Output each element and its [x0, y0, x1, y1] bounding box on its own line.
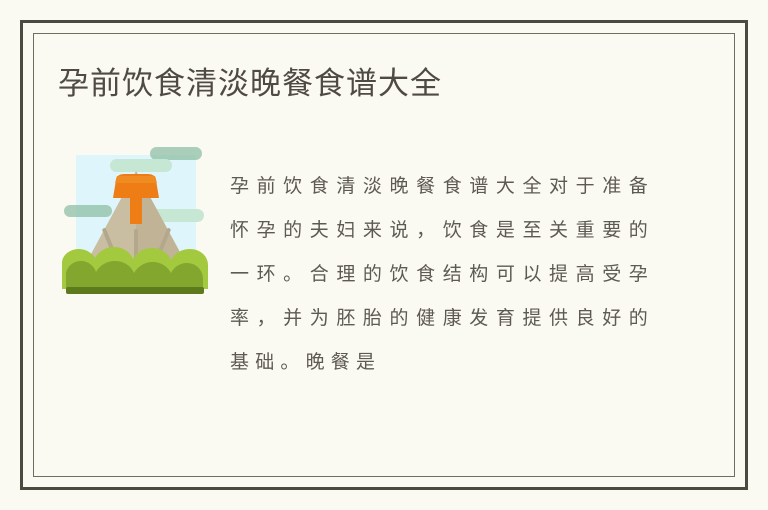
article-body: 孕前饮食清淡晚餐食谱大全对于准备怀孕的夫妇来说，饮食是至关重要的一环。合理的饮食…: [230, 164, 654, 384]
cloud-icon-top-left: [110, 159, 172, 172]
cloud-icon-mid-left: [64, 205, 112, 217]
article-content: 孕前饮食清淡晚餐食谱大全对于准备怀孕的夫妇来说，饮食是至关重要的一环。合理的饮食…: [58, 142, 698, 392]
article-paragraph: 孕前饮食清淡晚餐食谱大全对于准备怀孕的夫妇来说，饮食是至关重要的一环。合理的饮食…: [230, 164, 654, 384]
volcano-illustration: [62, 145, 210, 303]
page-title: 孕前饮食清淡晚餐食谱大全: [58, 62, 698, 106]
cloud-icon-top-right: [150, 147, 202, 160]
page-root: 孕前饮食清淡晚餐食谱大全: [0, 0, 768, 510]
ground-strip: [66, 287, 204, 294]
crater-rim: [115, 176, 157, 183]
